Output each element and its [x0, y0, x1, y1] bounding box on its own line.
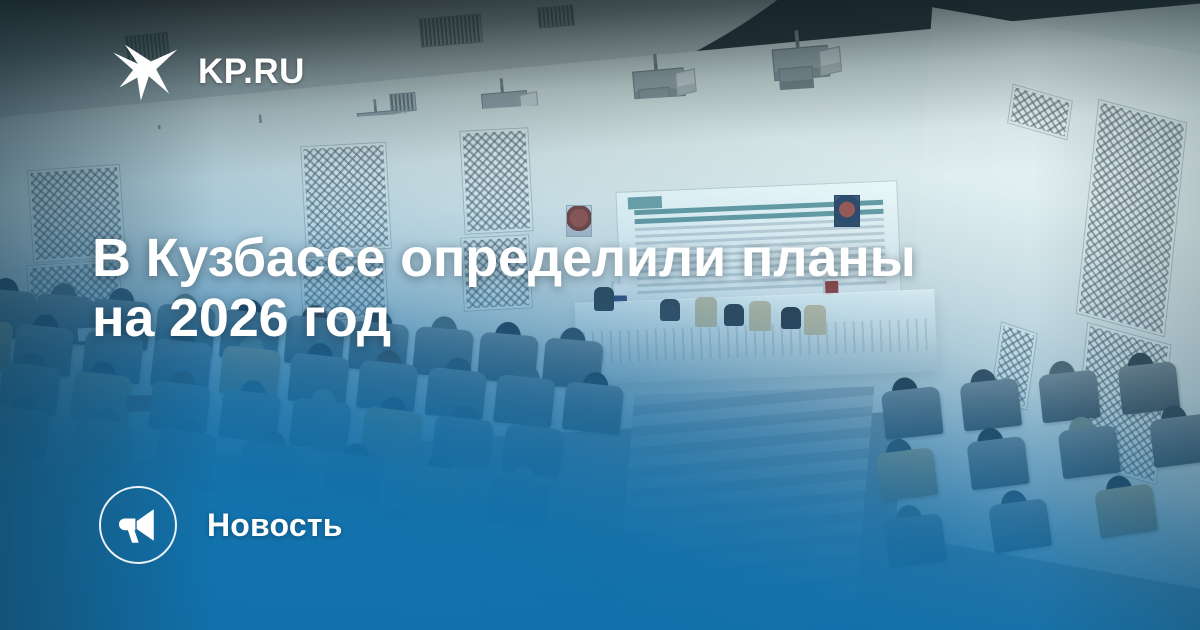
brand-logo[interactable]: KP.RU: [110, 36, 305, 106]
page-title: В Кузбассе определили планы на 2026 год: [92, 228, 992, 349]
swallow-bird-icon: [110, 36, 180, 106]
news-share-card: KP.RU В Кузбассе определили планы на 202…: [0, 0, 1200, 630]
status-badge[interactable]: Новость: [99, 486, 343, 564]
badge-label: Новость: [207, 507, 343, 544]
megaphone-icon: [117, 504, 159, 546]
brand-name: KP.RU: [198, 54, 305, 89]
badge-icon-circle: [99, 486, 177, 564]
